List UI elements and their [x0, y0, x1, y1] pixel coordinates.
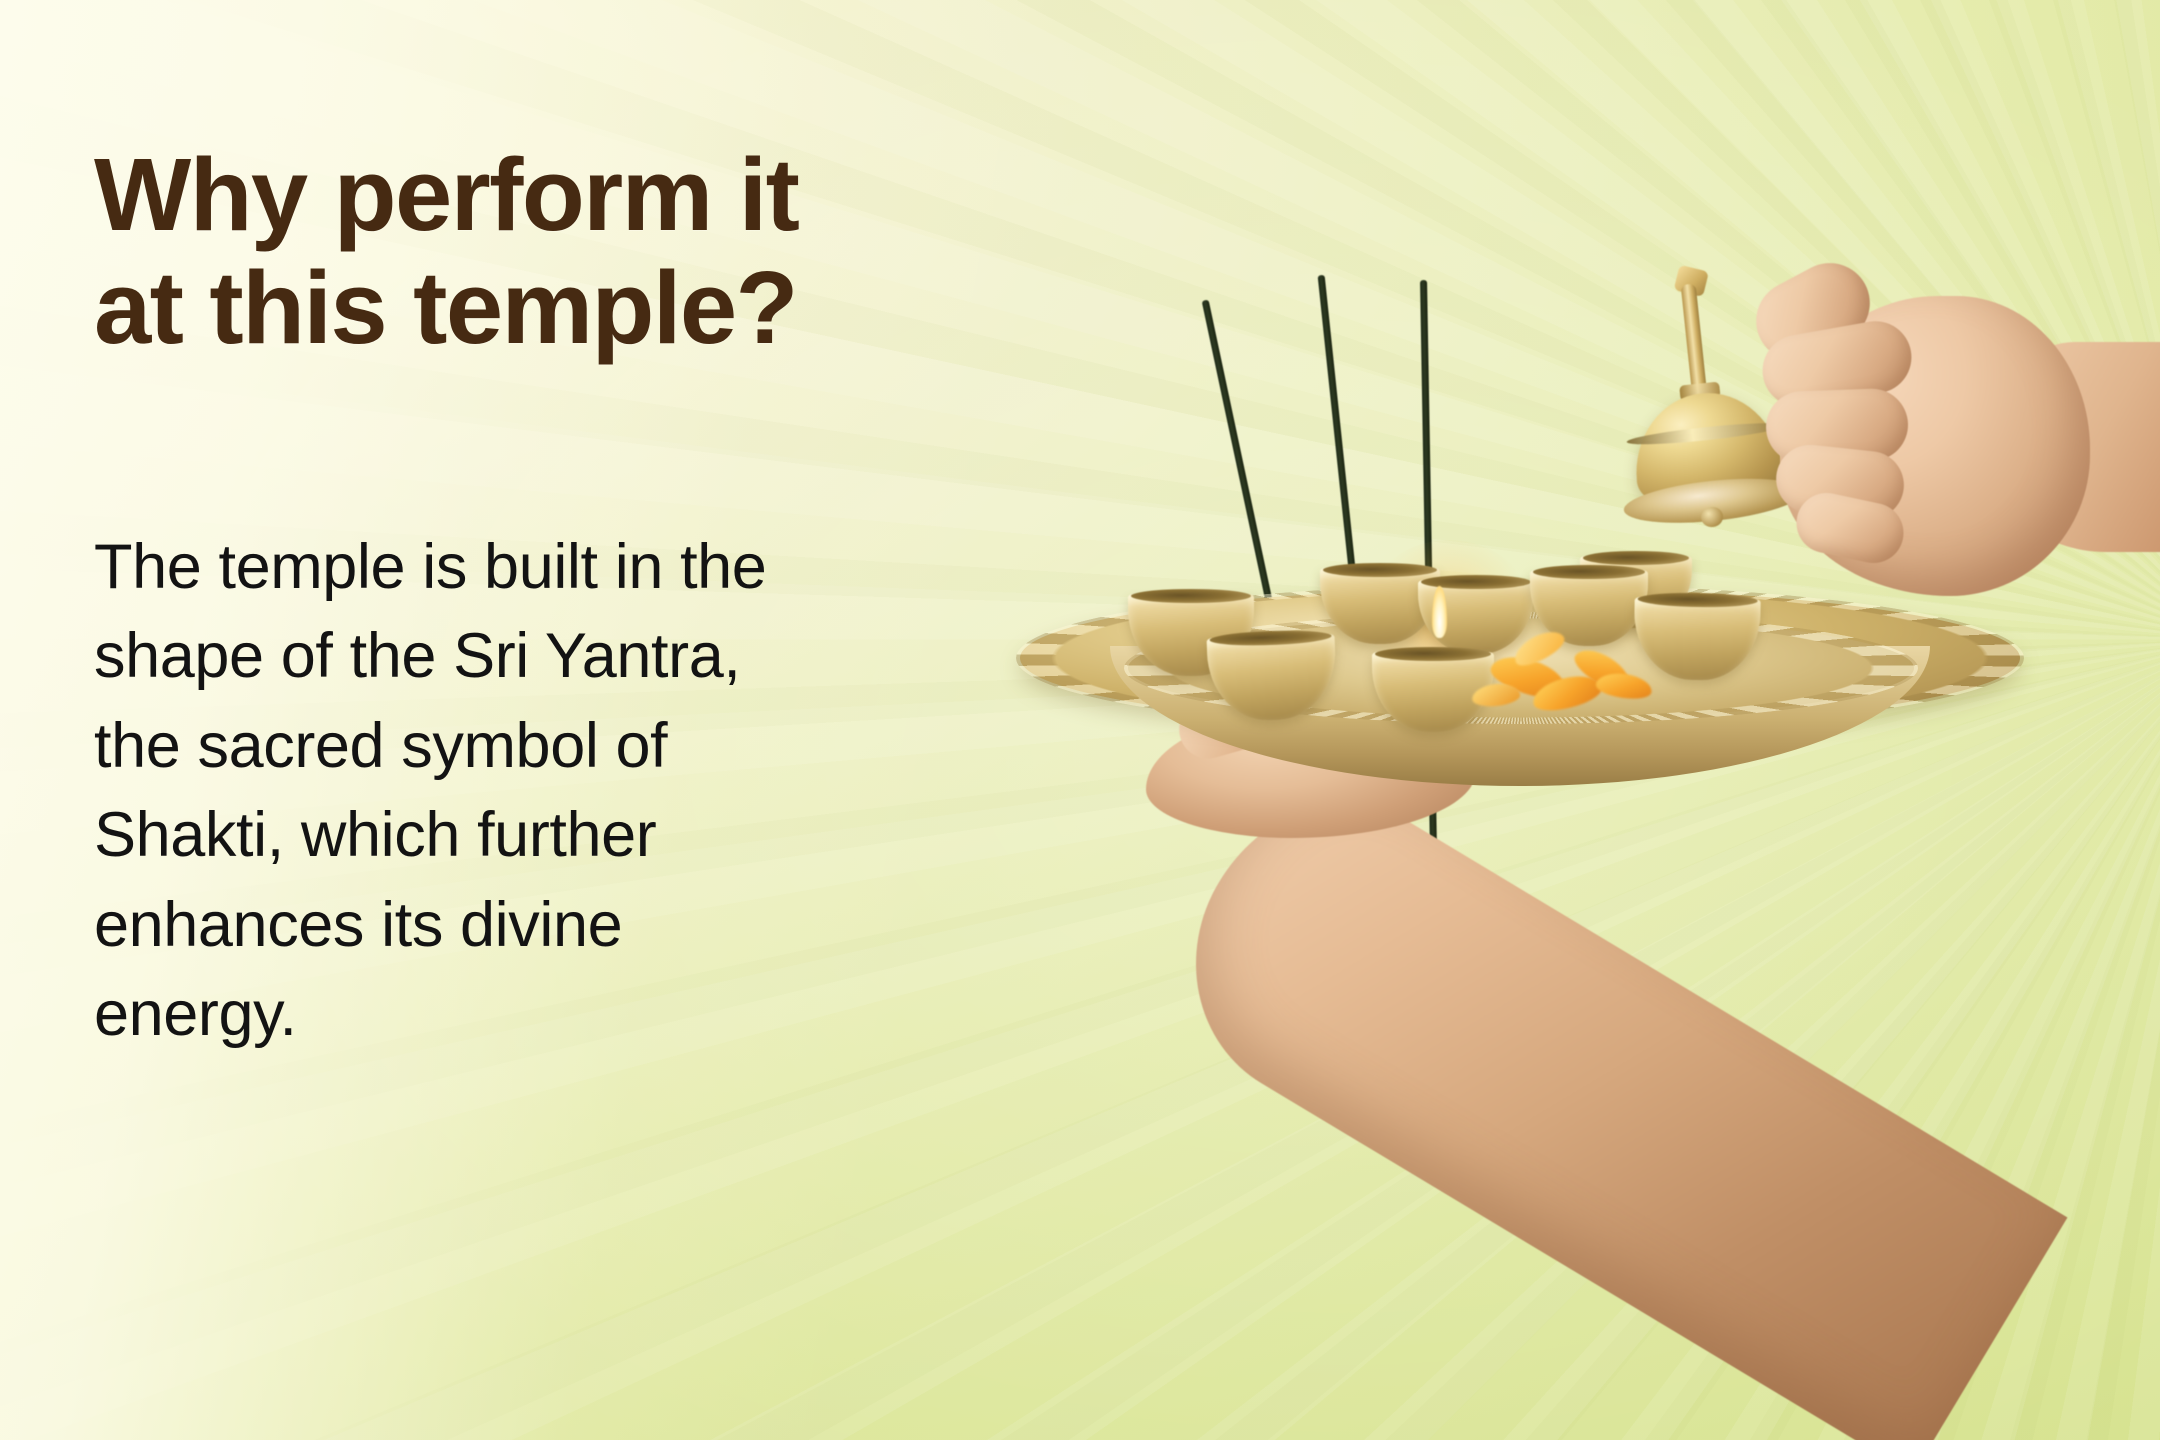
bell-stem — [1681, 283, 1707, 394]
text-block: Why perform it at this temple? The templ… — [94, 138, 1014, 365]
left-hand-holding-thali — [1116, 700, 2160, 1440]
left-forearm — [1141, 754, 2067, 1440]
aarti-photo — [1020, 0, 2160, 1440]
page-title: Why perform it at this temple? — [94, 138, 1014, 365]
slide-canvas: Why perform it at this temple? The templ… — [0, 0, 2160, 1440]
body-paragraph: The temple is built in the shape of the … — [94, 523, 974, 1060]
